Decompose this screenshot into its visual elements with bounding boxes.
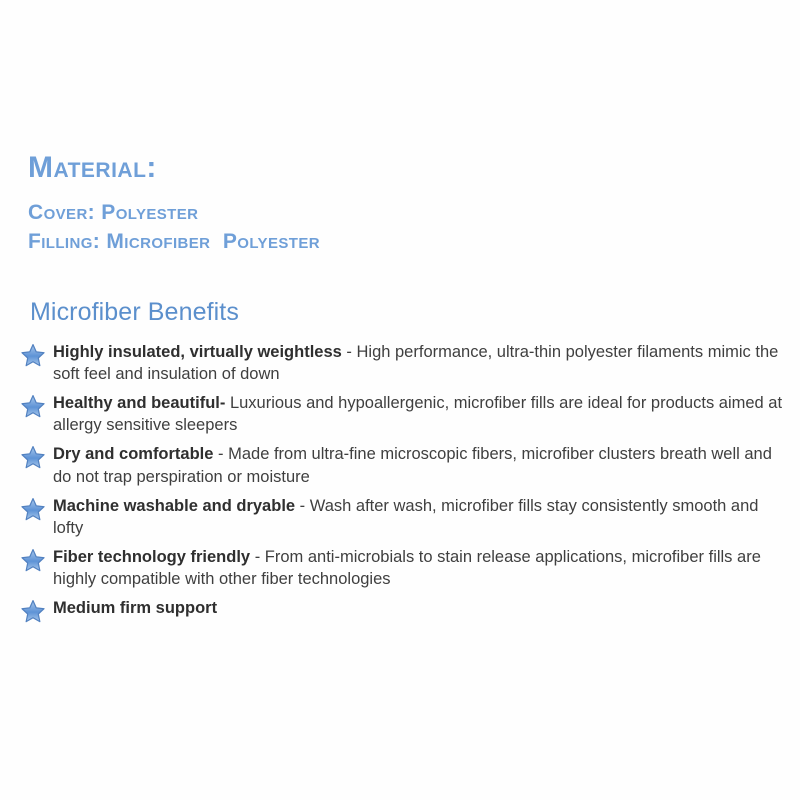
star-icon [20, 598, 46, 624]
star-icon [20, 342, 46, 368]
material-title: Material: [28, 152, 320, 184]
list-item: Medium firm support [20, 597, 790, 619]
benefit-term: Medium firm support [53, 599, 217, 617]
benefit-term: Dry and comfortable [53, 445, 213, 463]
star-icon [20, 393, 46, 419]
benefit-term: Machine washable and dryable [53, 497, 295, 515]
list-item: Machine washable and dryable - Wash afte… [20, 495, 790, 539]
material-filling-line: Filling: Microfiber Polyester [28, 227, 320, 257]
list-item: Dry and comfortable - Made from ultra-fi… [20, 443, 790, 487]
star-icon [20, 547, 46, 573]
benefit-term: Healthy and beautiful- [53, 394, 225, 412]
list-item: Fiber technology friendly - From anti-mi… [20, 546, 790, 590]
benefits-list: Highly insulated, virtually weightless -… [20, 341, 790, 626]
star-icon [20, 496, 46, 522]
list-item: Healthy and beautiful- Luxurious and hyp… [20, 392, 790, 436]
list-item: Highly insulated, virtually weightless -… [20, 341, 790, 385]
benefit-term: Highly insulated, virtually weightless [53, 343, 342, 361]
material-sublines: Cover: Polyester Filling: Microfiber Pol… [28, 198, 320, 258]
benefits-heading: Microfiber Benefits [30, 298, 239, 327]
star-icon [20, 444, 46, 470]
material-cover-line: Cover: Polyester [28, 198, 320, 228]
material-section: Material: Cover: Polyester Filling: Micr… [28, 152, 320, 257]
product-description-page: Material: Cover: Polyester Filling: Micr… [0, 0, 800, 800]
benefit-term: Fiber technology friendly [53, 548, 250, 566]
